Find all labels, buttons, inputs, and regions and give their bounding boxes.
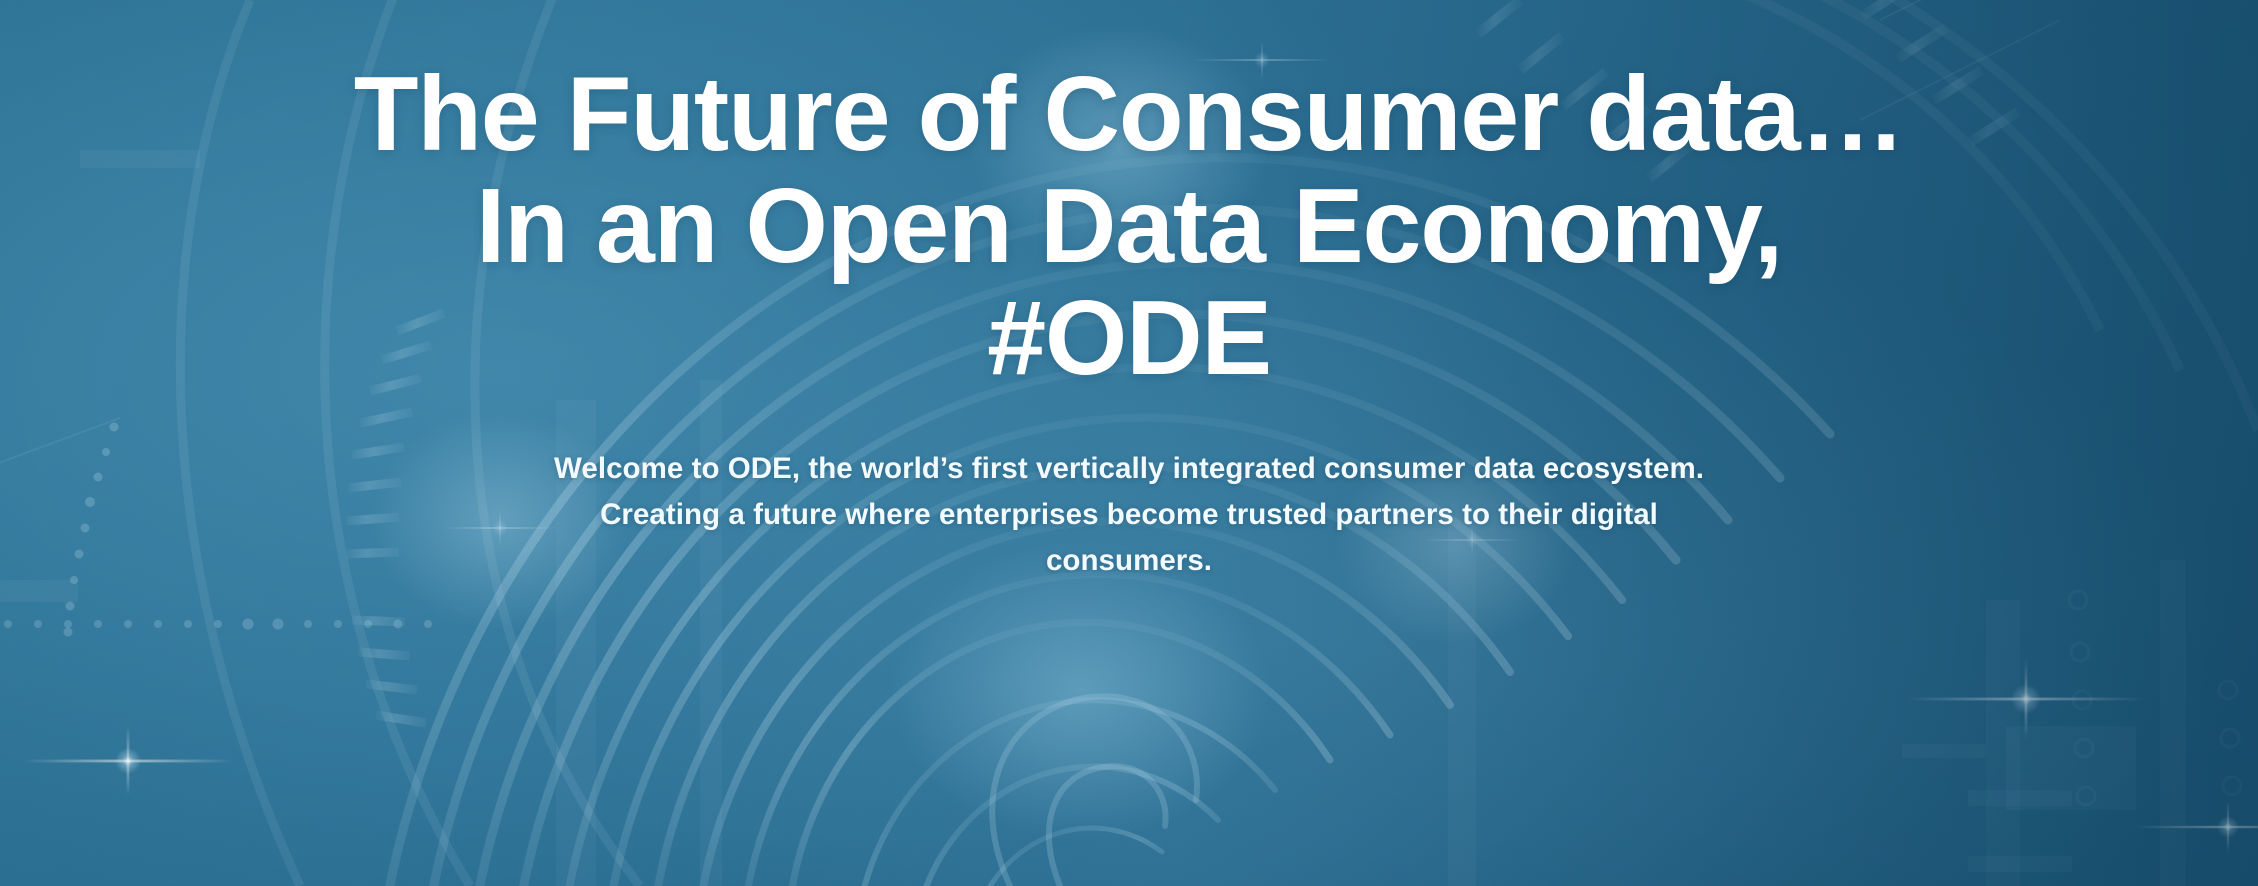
headline-line-3-hashtag: #ODE: [0, 282, 2258, 394]
subtitle-line-1: Welcome to ODE, the world’s first vertic…: [249, 446, 2009, 492]
hero-content: The Future of Consumer data… In an Open …: [0, 0, 2258, 886]
headline-line-1: The Future of Consumer data…: [0, 58, 2258, 170]
hero-subtitle: Welcome to ODE, the world’s first vertic…: [249, 446, 2009, 584]
headline-line-2: In an Open Data Economy,: [0, 170, 2258, 282]
hero-banner: The Future of Consumer data… In an Open …: [0, 0, 2258, 886]
subtitle-line-3: consumers.: [249, 538, 2009, 584]
subtitle-line-2: Creating a future where enterprises beco…: [249, 492, 2009, 538]
page-title: The Future of Consumer data… In an Open …: [0, 58, 2258, 394]
